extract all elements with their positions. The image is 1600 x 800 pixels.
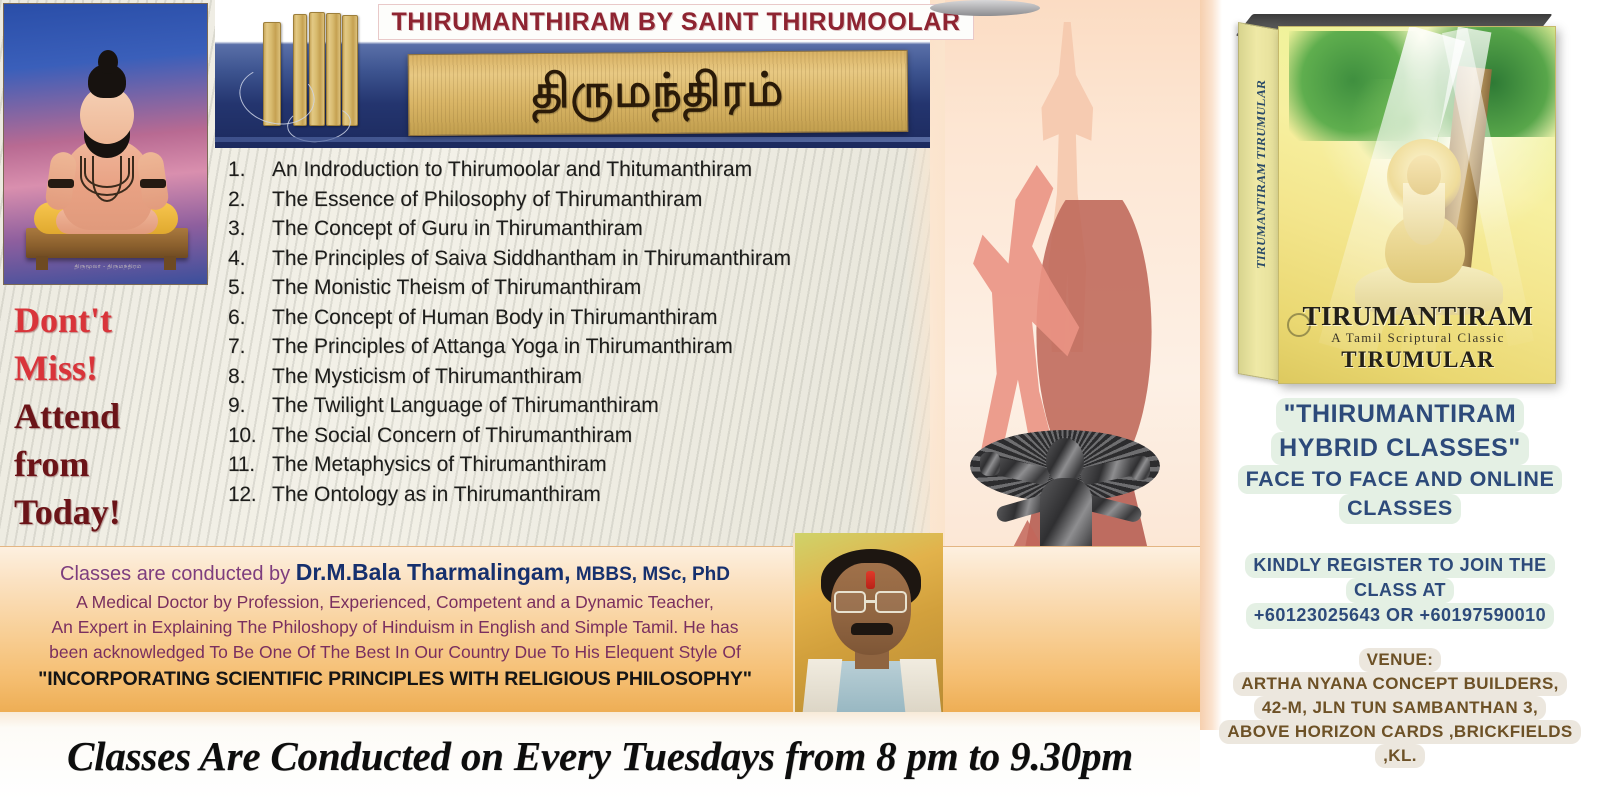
venue-line-1-wrap: ARTHA NYANA CONCEPT BUILDERS, (1208, 672, 1592, 696)
headline-line-1-wrap: "THIRUMANTIRAM (1212, 398, 1588, 432)
list-item-label: The Principles of Saiva Siddhantham in T… (272, 244, 928, 274)
venue-line-4: ,KL. (1375, 744, 1425, 768)
venue-line-3: ABOVE HORIZON CARDS ,BRICKFIELDS (1219, 720, 1580, 744)
headline-line-1: "THIRUMANTIRAM (1276, 398, 1525, 432)
list-item-number: 1. (228, 155, 272, 185)
saint-armband-right (140, 179, 166, 188)
headline-line-2: HYBRID CLASSES" (1271, 432, 1529, 466)
instructor-photo (793, 533, 943, 712)
saint-photo-caption: திருமூலர் - திருமந்திரம் (18, 263, 198, 281)
list-item-number: 5. (228, 273, 272, 303)
saint-topknot (98, 50, 118, 74)
phone-numbers-wrap[interactable]: +60123025643 OR +60197590010 (1212, 603, 1588, 628)
list-item-label: The Monistic Theism of Thirumanthiram (272, 273, 928, 303)
palm-leaf-manuscript-illustration (253, 10, 393, 134)
list-item-label: An Indroduction to Thirumoolar and Thitu… (272, 155, 928, 185)
instructor-bio-line-3: been acknowledged To Be One Of The Best … (0, 640, 790, 665)
registration-block: KINDLY REGISTER TO JOIN THE CLASS AT +60… (1212, 553, 1588, 629)
nataraja-hand-right (1130, 456, 1150, 480)
list-item-label: The Mysticism of Thirumanthiram (272, 362, 928, 392)
list-item: 11. The Metaphysics of Thirumanthiram (228, 450, 928, 480)
list-item-label: The Social Concern of Thirumanthiram (272, 421, 928, 451)
instructor-bio-line-1: A Medical Doctor by Profession, Experien… (0, 590, 790, 615)
list-item: 3. The Concept of Guru in Thirumanthiram (228, 214, 928, 244)
list-item-label: The Metaphysics of Thirumanthiram (272, 450, 928, 480)
list-item-number: 10. (228, 421, 272, 451)
book-subtitle: A Tamil Scriptural Classic (1279, 330, 1556, 346)
book-front-cover: TIRUMANTIRAM A Tamil Scriptural Classic … (1278, 26, 1556, 384)
venue-label-wrap: VENUE: (1208, 648, 1592, 672)
list-item-label: The Concept of Human Body in Thirumanthi… (272, 303, 928, 333)
instructor-bio-line-2: An Expert in Explaining The Philoshopy o… (0, 615, 790, 640)
headline-line-3-wrap: FACE TO FACE AND ONLINE (1212, 465, 1588, 494)
list-item-label: The Essence of Philosophy of Thirumanthi… (272, 185, 928, 215)
headline-line-2-wrap: HYBRID CLASSES" (1212, 432, 1588, 466)
venue-line-2-wrap: 42-M, JLN TUN SAMBANTHAN 3, (1208, 696, 1592, 720)
right-info-panel: TIRUMANTIRAM TIRUMULAR TIRUMANTIRAM A Ta… (1200, 0, 1600, 800)
list-item: 4. The Principles of Saiva Siddhantham i… (228, 244, 928, 274)
venue-line-1: ARTHA NYANA CONCEPT BUILDERS, (1233, 672, 1567, 696)
tamil-title-banner: திருமந்திரம் (408, 50, 909, 136)
saint-thirumoolar-photo: திருமூலர் - திருமந்திரம் (3, 3, 208, 285)
doctor-shawl-left (802, 659, 843, 712)
list-item-number: 11. (228, 450, 272, 480)
venue-label: VENUE: (1359, 648, 1442, 672)
header-wave-accent (215, 137, 930, 142)
book-title: TIRUMANTIRAM (1279, 301, 1556, 332)
venue-line-3-wrap: ABOVE HORIZON CARDS ,BRICKFIELDS (1208, 720, 1592, 744)
list-item-label: The Concept of Guru in Thirumanthiram (272, 214, 928, 244)
saint-armband-left (48, 179, 74, 188)
list-item: 7. The Principles of Attanga Yoga in Thi… (228, 332, 928, 362)
register-line-2: CLASS AT (1346, 578, 1454, 603)
venue-block: VENUE: ARTHA NYANA CONCEPT BUILDERS, 42-… (1208, 648, 1592, 768)
list-item-label: The Principles of Attanga Yoga in Thirum… (272, 332, 928, 362)
book-spine-text: TIRUMANTIRAM TIRUMULAR (1254, 23, 1268, 325)
poster-title-box: THIRUMANTHIRAM BY SAINT THIRUMOOLAR (378, 4, 974, 40)
saint-beads-3 (92, 156, 122, 202)
sage-face (1407, 155, 1441, 195)
venue-line-2: 42-M, JLN TUN SAMBANTHAN 3, (1254, 696, 1546, 720)
list-item: 6. The Concept of Human Body in Thiruman… (228, 303, 928, 333)
list-item-number: 8. (228, 362, 272, 392)
list-item-number: 12. (228, 480, 272, 510)
main-content-area: THIRUMANTHIRAM BY SAINT THIRUMOOLAR திரு… (0, 0, 1200, 800)
list-item: 9. The Twilight Language of Thirumanthir… (228, 391, 928, 421)
register-line-1: KINDLY REGISTER TO JOIN THE (1245, 553, 1554, 578)
topics-list: 1. An Indroduction to Thirumoolar and Th… (228, 155, 928, 509)
headline-line-4: CLASSES (1339, 494, 1461, 523)
statue-base (930, 0, 1040, 16)
list-item: 2. The Essence of Philosophy of Thiruman… (228, 185, 928, 215)
dont-miss-callout: Dont't Miss! Attend from Today! (14, 296, 204, 536)
instructor-name-line: Classes are conducted by Dr.M.Bala Tharm… (0, 557, 790, 590)
list-item-number: 3. (228, 214, 272, 244)
tamil-title-text: திருமந்திரம் (532, 61, 785, 124)
venue-line-4-wrap: ,KL. (1208, 744, 1592, 768)
eyeglass-left (834, 591, 866, 613)
dont-miss-line-1: Dont't (14, 296, 204, 344)
eyeglass-right (875, 591, 907, 613)
list-item-number: 9. (228, 391, 272, 421)
register-line-2-wrap: CLASS AT (1212, 578, 1588, 603)
class-headline-block: "THIRUMANTIRAM HYBRID CLASSES" FACE TO F… (1212, 398, 1588, 524)
dont-miss-line-2: Miss! (14, 344, 204, 392)
list-item-number: 7. (228, 332, 272, 362)
doctor-moustache (851, 623, 893, 635)
book-illustration: TIRUMANTIRAM TIRUMULAR TIRUMANTIRAM A Ta… (1228, 8, 1572, 388)
list-item: 5. The Monistic Theism of Thirumanthiram (228, 273, 928, 303)
list-item: 1. An Indroduction to Thirumoolar and Th… (228, 155, 928, 185)
register-line-1-wrap: KINDLY REGISTER TO JOIN THE (1212, 553, 1588, 578)
instructor-info-panel: Classes are conducted by Dr.M.Bala Tharm… (0, 546, 1200, 712)
list-item-number: 6. (228, 303, 272, 333)
doctor-shawl-right (900, 659, 943, 712)
list-item-label: The Twilight Language of Thirumanthiram (272, 391, 928, 421)
poster-root: THIRUMANTHIRAM BY SAINT THIRUMOOLAR திரு… (0, 0, 1600, 800)
list-item-number: 4. (228, 244, 272, 274)
instructor-quote: "INCORPORATING SCIENTIFIC PRINCIPLES WIT… (0, 665, 790, 693)
tilak-mark (866, 571, 875, 589)
schedule-banner: Classes Are Conducted on Every Tuesdays … (0, 712, 1200, 800)
eyeglass-bridge (866, 600, 875, 603)
dont-miss-line-5: Today! (14, 488, 204, 536)
instructor-text-block: Classes are conducted by Dr.M.Bala Tharm… (0, 557, 790, 693)
dont-miss-line-4: from (14, 440, 204, 488)
list-item: 8. The Mysticism of Thirumanthiram (228, 362, 928, 392)
list-item: 10. The Social Concern of Thirumanthiram (228, 421, 928, 451)
phone-numbers[interactable]: +60123025643 OR +60197590010 (1246, 603, 1554, 628)
list-item-label: The Ontology as in Thirumanthiram (272, 480, 928, 510)
instructor-name: Dr.M.Bala Tharmalingam, (296, 559, 571, 585)
list-item: 12. The Ontology as in Thirumanthiram (228, 480, 928, 510)
schedule-text: Classes Are Conducted on Every Tuesdays … (67, 732, 1133, 780)
page-title: THIRUMANTHIRAM BY SAINT THIRUMOOLAR (391, 8, 960, 37)
book-author: TIRUMULAR (1279, 347, 1556, 373)
headline-line-4-wrap: CLASSES (1212, 494, 1588, 523)
nataraja-hand-left (980, 452, 1000, 476)
list-item-number: 2. (228, 185, 272, 215)
instructor-degrees: MBBS, MSc, PhD (571, 564, 730, 585)
headline-line-3: FACE TO FACE AND ONLINE (1238, 465, 1563, 494)
dont-miss-line-3: Attend (14, 392, 204, 440)
instructor-lead-text: Classes are conducted by (60, 563, 296, 585)
